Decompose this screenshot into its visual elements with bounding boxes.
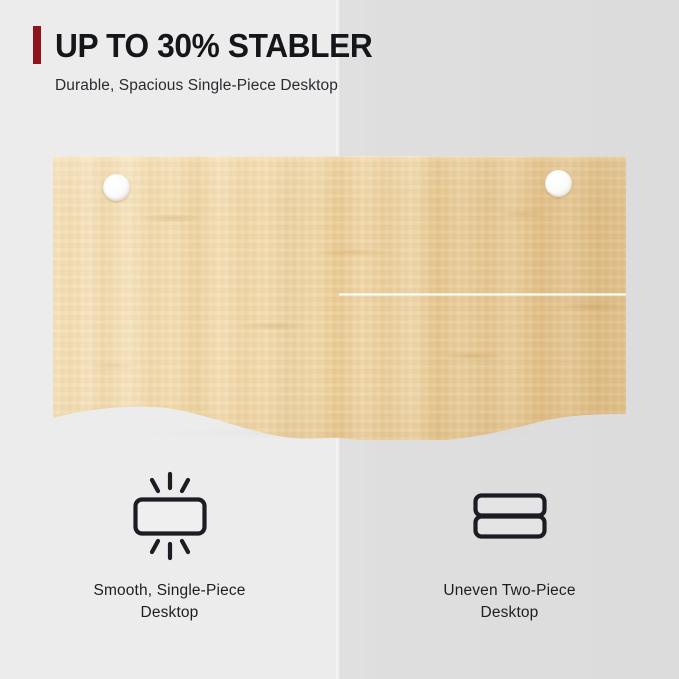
- single-piece-caption-line2: Desktop: [93, 602, 245, 624]
- comparison-item-single-piece: Smooth, Single-Piece Desktop: [0, 470, 339, 650]
- single-piece-icon-box: [115, 470, 225, 562]
- cable-grommet-right: [545, 170, 572, 197]
- desktop-surface: [53, 156, 626, 440]
- page-title: UP TO 30% STABLER: [55, 29, 372, 62]
- cable-grommet-left: [103, 174, 130, 201]
- single-piece-caption: Smooth, Single-Piece Desktop: [93, 580, 245, 624]
- comparison-item-two-piece: Uneven Two-Piece Desktop: [340, 470, 679, 650]
- bamboo-desktop-photo: [53, 156, 626, 440]
- two-piece-desktop-icon: [455, 470, 565, 562]
- accent-bar: [33, 26, 41, 64]
- two-piece-caption-line1: Uneven Two-Piece: [443, 582, 575, 599]
- two-piece-icon-box: [455, 470, 565, 562]
- wood-lighting-overlay: [53, 156, 626, 440]
- single-piece-caption-line1: Smooth, Single-Piece: [93, 582, 245, 599]
- two-piece-caption: Uneven Two-Piece Desktop: [443, 580, 575, 624]
- two-piece-seam-line: [339, 293, 626, 296]
- page-subtitle: Durable, Spacious Single-Piece Desktop: [55, 77, 338, 95]
- title-row: UP TO 30% STABLER: [33, 26, 386, 64]
- comparison-row: Smooth, Single-Piece Desktop Uneven Two-…: [0, 470, 679, 650]
- infographic-page: UP TO 30% STABLER Durable, Spacious Sing…: [0, 0, 679, 679]
- single-piece-desktop-icon: [115, 470, 225, 562]
- two-piece-caption-line2: Desktop: [443, 602, 575, 624]
- wood-top-edge-highlight: [53, 156, 626, 159]
